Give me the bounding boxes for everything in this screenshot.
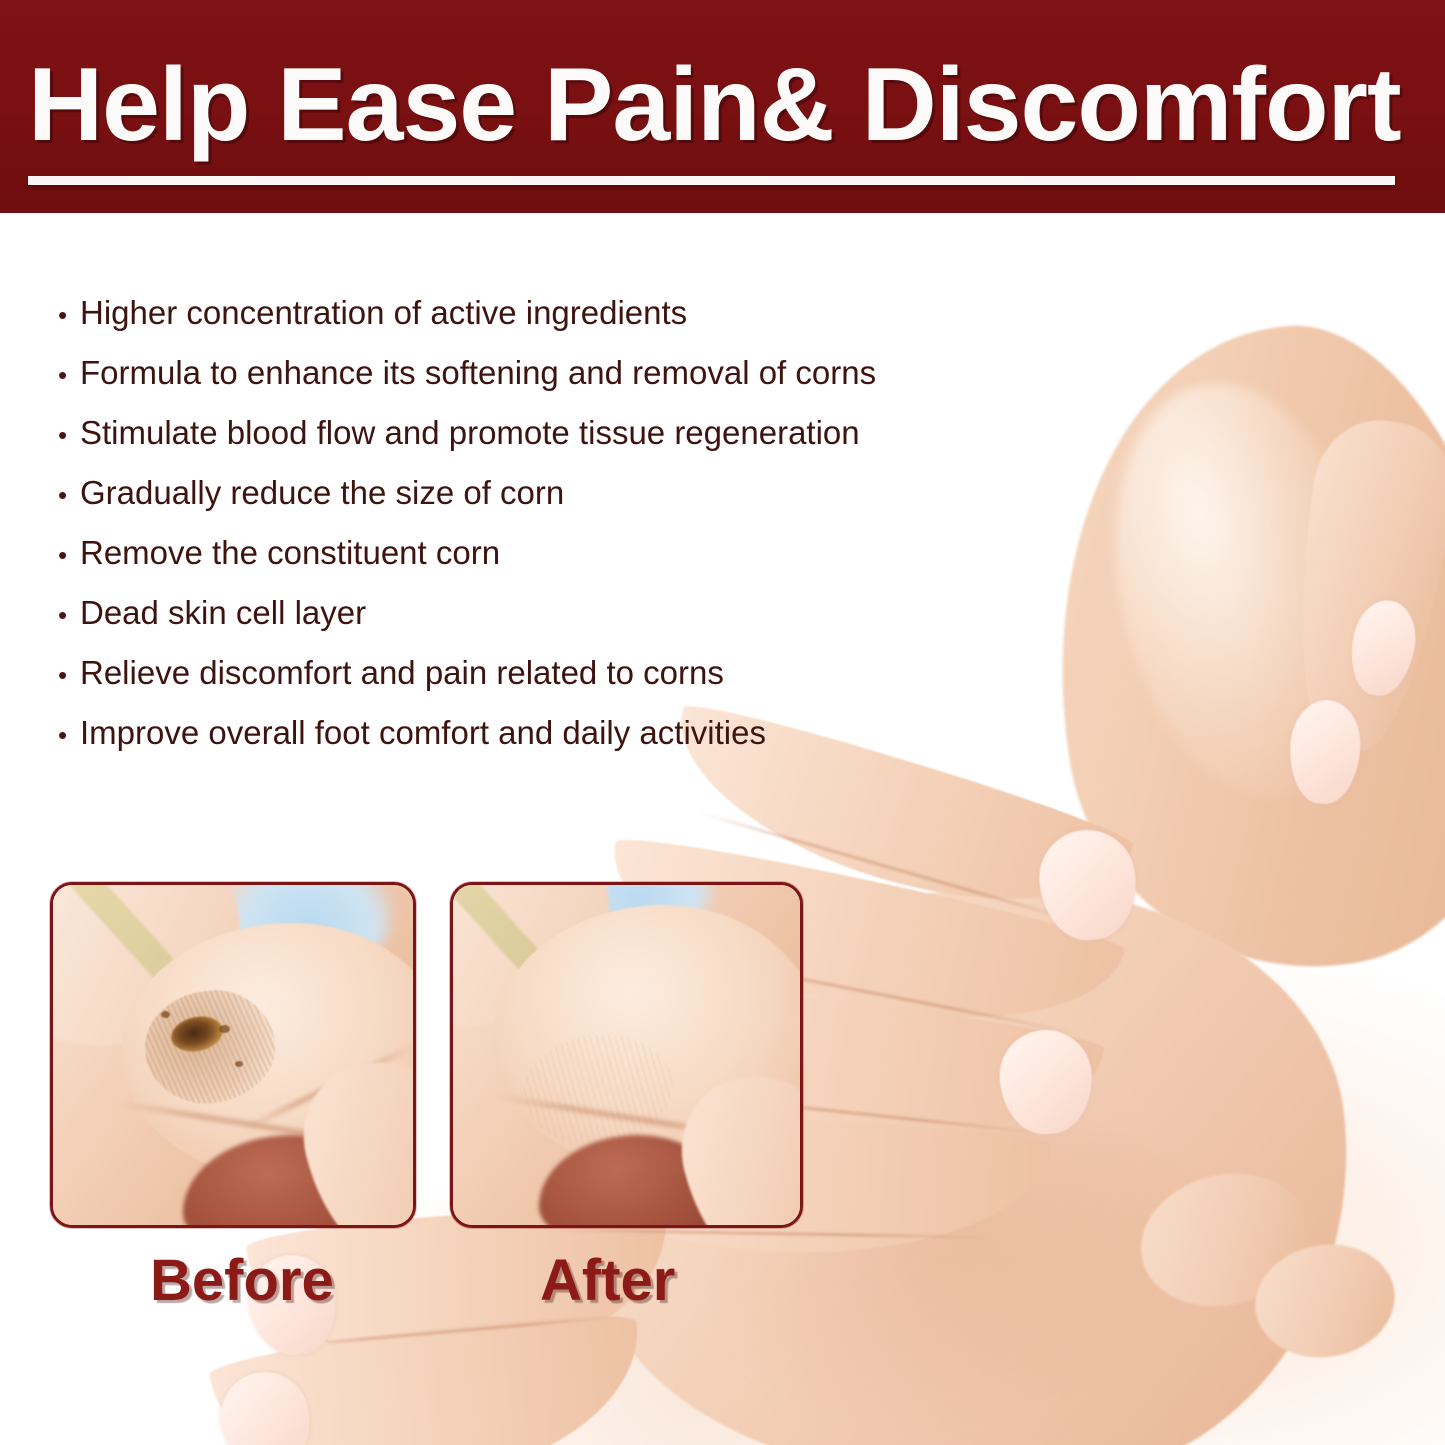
header-underline-rule (28, 176, 1395, 185)
fingernail (1344, 595, 1422, 700)
fingernail (213, 1364, 320, 1445)
callus-fleck (161, 1011, 170, 1018)
bullet-marker-icon: • (58, 354, 80, 396)
list-item: • Formula to enhance its softening and r… (58, 352, 1008, 412)
leg-highlight (1079, 359, 1411, 822)
benefits-list: • Higher concentration of active ingredi… (58, 292, 1008, 772)
bullet-marker-icon: • (58, 474, 80, 516)
list-item: • Higher concentration of active ingredi… (58, 292, 1008, 352)
header-banner: Help Ease Pain& Discomfort (0, 0, 1445, 213)
toe-shape (1246, 1234, 1403, 1369)
list-item: • Stimulate blood flow and promote tissu… (58, 412, 1008, 472)
after-label: After (540, 1252, 675, 1310)
leg-shape (1008, 298, 1445, 1002)
toe-shape (1127, 1156, 1323, 1323)
page-title: Help Ease Pain& Discomfort (28, 46, 1418, 164)
list-item-label: Gradually reduce the size of corn (80, 472, 564, 514)
callus-fleck (219, 1025, 230, 1033)
before-photo (53, 885, 413, 1225)
skin-crease (545, 1228, 995, 1239)
before-label: Before (150, 1252, 334, 1310)
before-image-frame (50, 882, 416, 1228)
fingernail (997, 1028, 1094, 1137)
list-item: • Gradually reduce the size of corn (58, 472, 1008, 532)
bullet-marker-icon: • (58, 594, 80, 636)
list-item-label: Improve overall foot comfort and daily a… (80, 712, 766, 754)
bullet-marker-icon: • (58, 294, 80, 336)
callus-fleck (235, 1061, 243, 1067)
list-item: • Improve overall foot comfort and daily… (58, 712, 1008, 772)
list-item-label: Stimulate blood flow and promote tissue … (80, 412, 860, 454)
bullet-marker-icon: • (58, 534, 80, 576)
bullet-marker-icon: • (58, 654, 80, 696)
finger-shape (207, 1304, 652, 1445)
list-item-label: Dead skin cell layer (80, 592, 366, 634)
thumb-shape (1278, 412, 1445, 758)
fingernail (1035, 825, 1142, 944)
list-item-label: Remove the constituent corn (80, 532, 500, 574)
fingernail (1286, 698, 1363, 807)
after-photo (453, 885, 800, 1225)
list-item: • Relieve discomfort and pain related to… (58, 652, 1008, 712)
bullet-marker-icon: • (58, 414, 80, 456)
product-benefits-infographic: Help Ease Pain& Discomfort • Higher conc… (0, 0, 1445, 1445)
list-item: • Remove the constituent corn (58, 532, 1008, 592)
bullet-marker-icon: • (58, 714, 80, 756)
list-item-label: Higher concentration of active ingredien… (80, 292, 687, 334)
skin-crease (276, 1315, 625, 1348)
after-image-frame (450, 882, 803, 1228)
list-item-label: Formula to enhance its softening and rem… (80, 352, 876, 394)
list-item: • Dead skin cell layer (58, 592, 1008, 652)
list-item-label: Relieve discomfort and pain related to c… (80, 652, 724, 694)
